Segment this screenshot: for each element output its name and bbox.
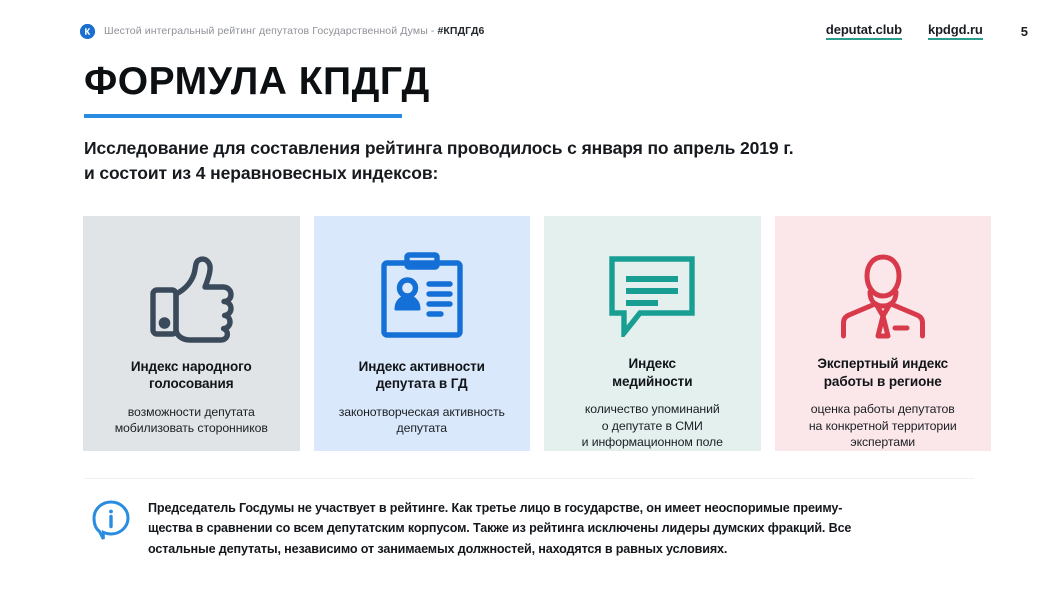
card-title-line-2: депутата в ГД [359,375,485,392]
title-accent-rule [84,114,402,118]
kpdgd-circle-logo-icon [80,24,95,39]
card-title: Индекс активности депутата в ГД [359,358,485,393]
header-caption: Шестой интегральный рейтинг депутатов Го… [104,25,484,37]
card-title-line-1: Индекс активности [359,358,485,375]
header-caption-text: Шестой интегральный рейтинг депутатов Го… [104,25,437,37]
footer-divider [84,478,974,479]
card-title-line-2: медийности [612,373,692,390]
header-link-deputat-club[interactable]: deputat.club [826,22,902,40]
card-description: оценка работы депутатов на конкретной те… [809,401,957,451]
header-left-group: Шестой интегральный рейтинг депутатов Го… [80,24,484,39]
header-link-kpdgd-ru[interactable]: kpdgd.ru [928,22,983,40]
slide-root: Шестой интегральный рейтинг депутатов Го… [0,0,1056,593]
card-desc-line-1: возможности депутата [115,404,268,421]
footer-text-line-3: остальные депутаты, независимо от занима… [148,539,851,559]
index-card-ekspertnyj-indeks: Экспертный индекс работы в регионе оценк… [775,216,992,451]
card-desc-line-3: и информационном поле [582,434,723,451]
card-description: количество упоминаний о депутате в СМИ и… [582,401,723,451]
card-title: Экспертный индекс работы в регионе [817,355,948,390]
footer-text: Председатель Госдумы не участвует в рейт… [148,498,851,559]
footer-note: Председатель Госдумы не участвует в рейт… [90,498,970,559]
card-description: возможности депутата мобилизовать сторон… [115,404,268,437]
clipboard-id-badge-icon [376,238,468,356]
expert-person-suit-icon [835,238,931,353]
card-title-line-1: Индекс [612,355,692,372]
page-number: 5 [1021,24,1028,39]
page-title: ФОРМУЛА КПДГД [84,62,430,101]
card-description: законотворческая активность депутата [339,404,505,437]
footer-text-line-2: щества в сравнении со всем депутатским к… [148,518,851,538]
card-desc-line-3: экспертами [809,434,957,451]
card-title-line-1: Индекс народного [131,358,252,375]
card-title-line-1: Экспертный индекс [817,355,948,372]
subtitle-line-2: и состоит из 4 неравновесных индексов: [84,161,954,186]
index-card-aktivnost-deputata: Индекс активности депутата в ГД законотв… [314,216,531,451]
card-desc-line-1: законотворческая активность [339,404,505,421]
footer-text-line-1: Председатель Госдумы не участвует в рейт… [148,498,851,518]
card-desc-line-2: мобилизовать сторонников [115,420,268,437]
info-bubble-icon [90,499,132,541]
index-card-narodnoe-golosovanie: Индекс народного голосования возможности… [83,216,300,451]
card-desc-line-2: депутата [339,420,505,437]
card-desc-line-2: о депутате в СМИ [582,418,723,435]
subtitle-line-1: Исследование для составления рейтинга пр… [84,136,954,161]
header-right-group: deputat.club kpdgd.ru 5 [826,22,1036,40]
card-title: Индекс медийности [612,355,692,390]
header-hashtag: #КПДГД6 [437,25,484,37]
card-desc-line-1: оценка работы депутатов [809,401,957,418]
card-title-line-2: голосования [131,375,252,392]
thumbs-up-icon [143,238,239,356]
card-title-line-2: работы в регионе [817,373,948,390]
index-card-medijnost: Индекс медийности количество упоминаний … [544,216,761,451]
speech-bubble-icon [607,238,697,353]
card-desc-line-2: на конкретной территории [809,418,957,435]
title-block: ФОРМУЛА КПДГД [84,62,430,118]
subtitle: Исследование для составления рейтинга пр… [84,136,954,186]
card-title: Индекс народного голосования [131,358,252,393]
card-desc-line-1: количество упоминаний [582,401,723,418]
index-cards-row: Индекс народного голосования возможности… [83,216,991,451]
slide-header: Шестой интегральный рейтинг депутатов Го… [80,20,1036,42]
